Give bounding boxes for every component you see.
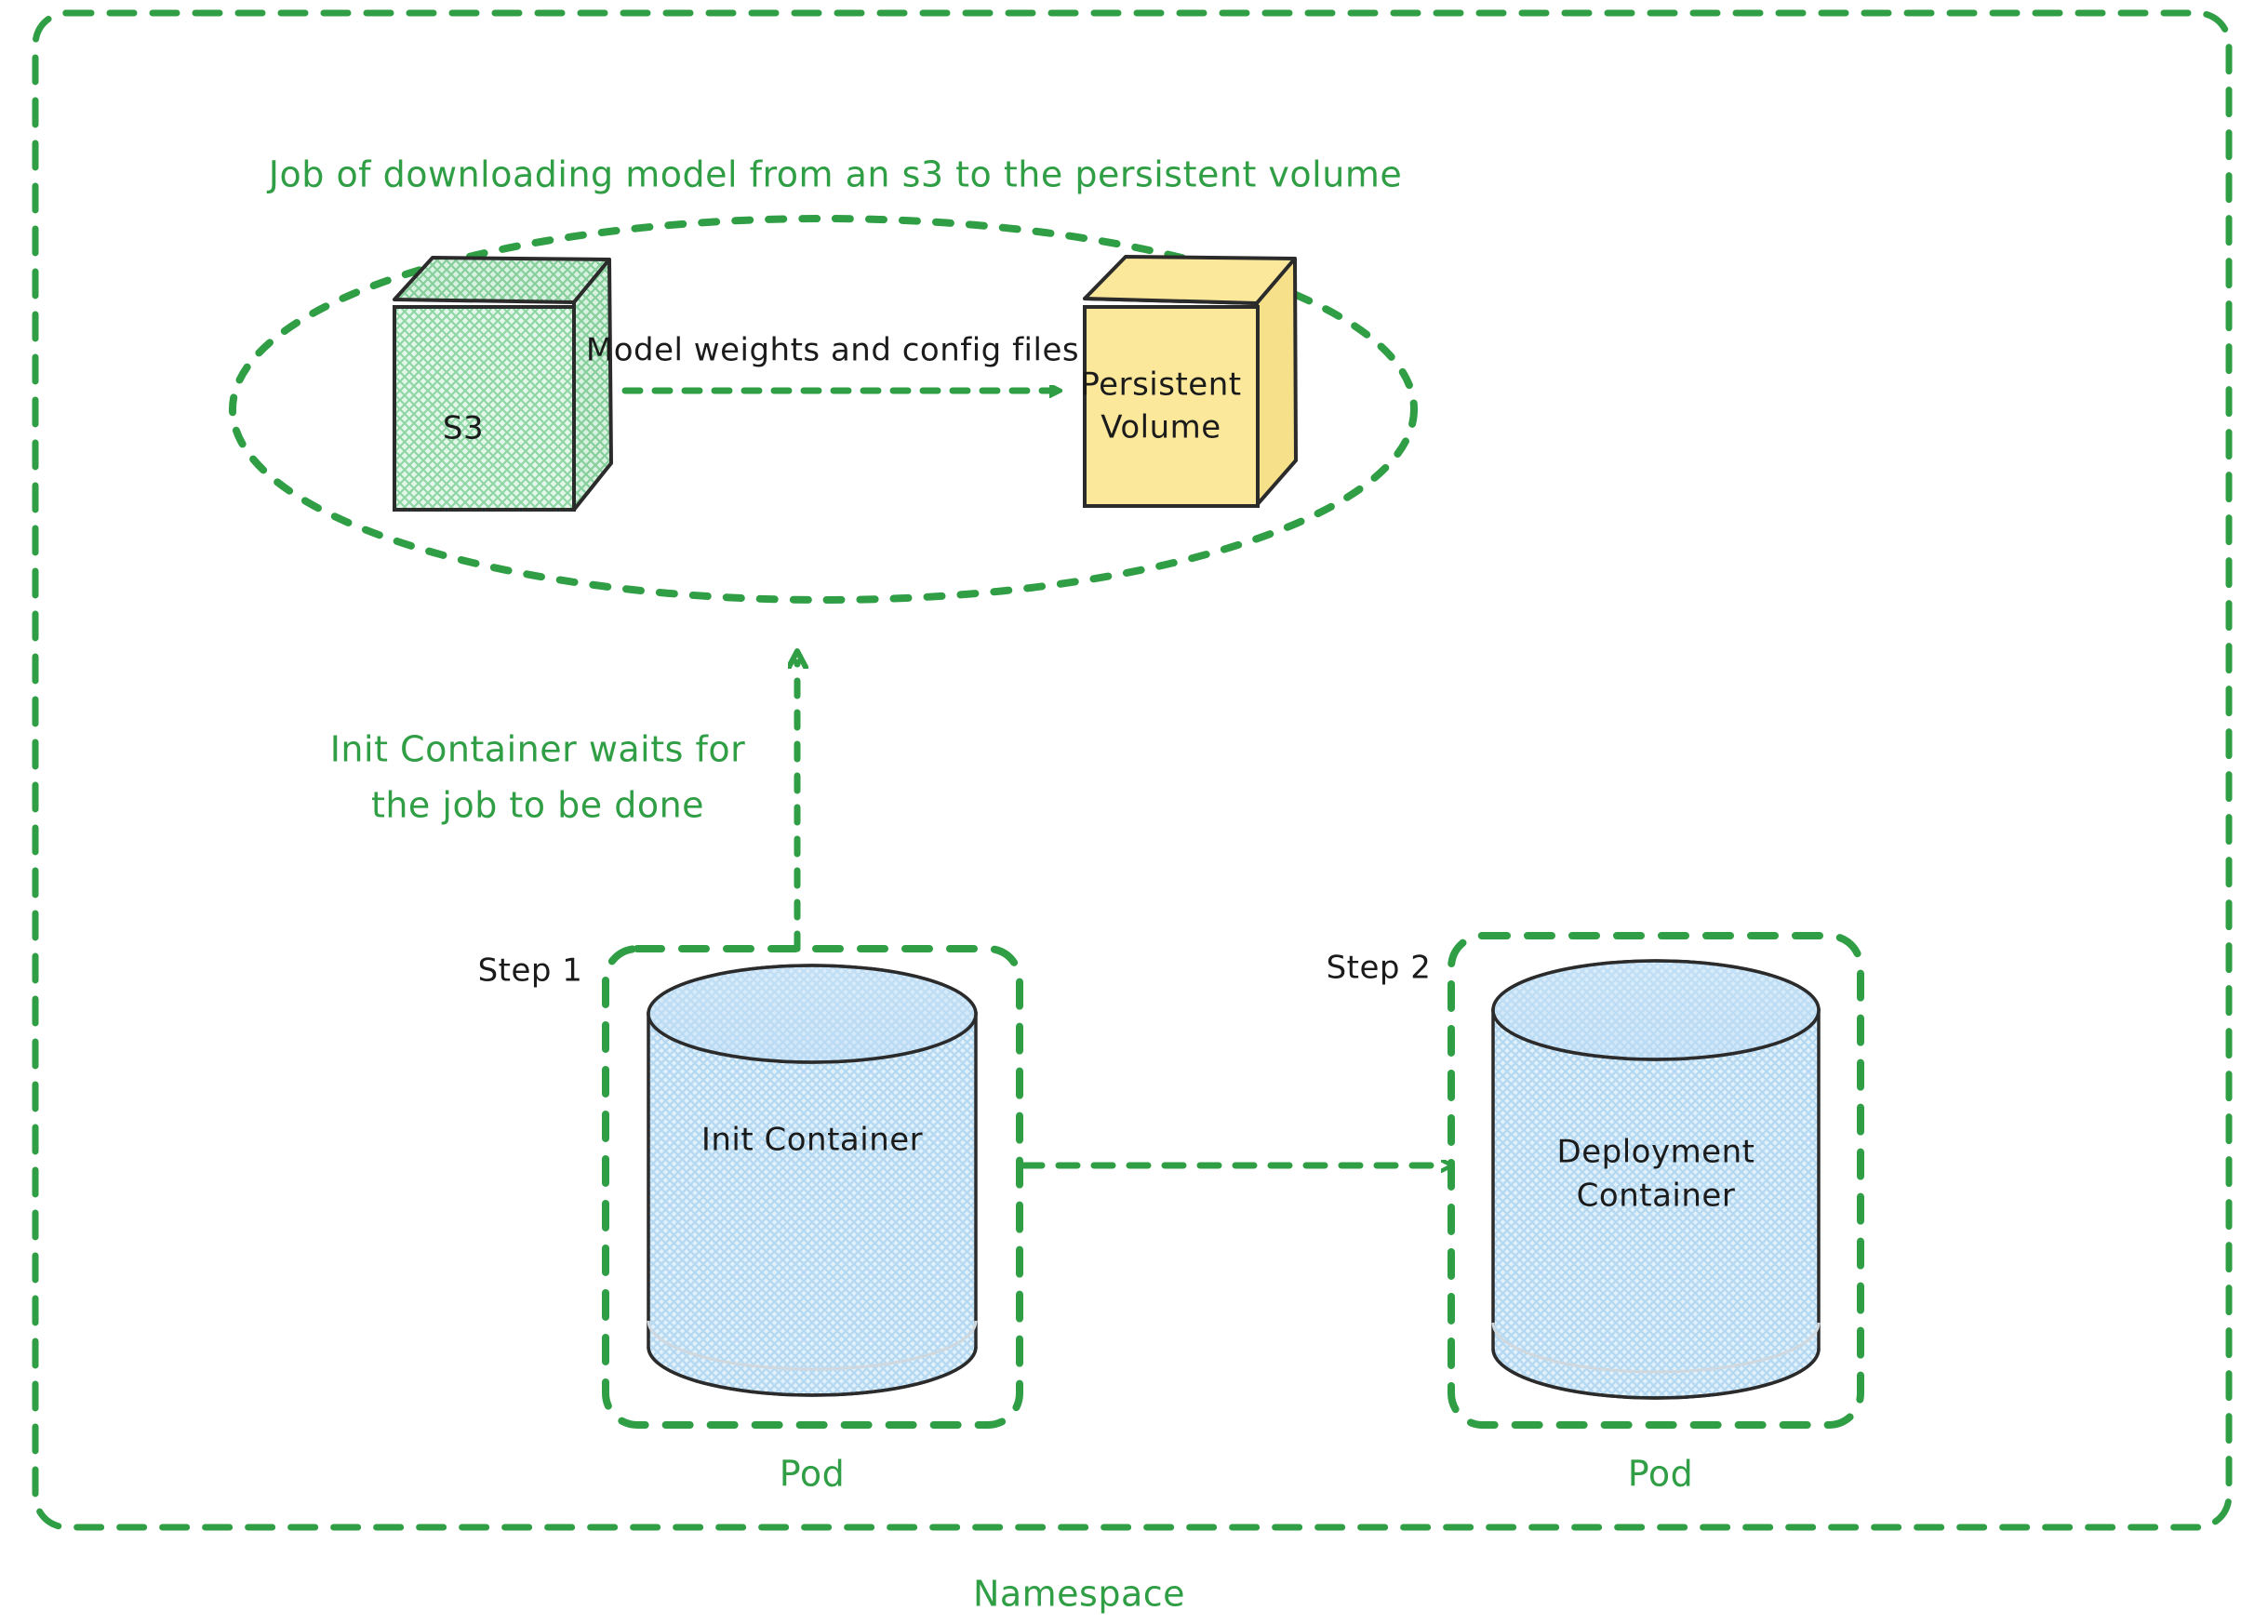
pv-cube-side [1257, 259, 1296, 505]
namespace-label: Namespace [973, 1574, 1185, 1615]
init-container-cylinder: Init Container [648, 965, 976, 1395]
pv-cube-front [1085, 307, 1258, 506]
namespace-boundary [35, 13, 2229, 1527]
deployment-container-cylinder: Deployment Container [1493, 961, 1819, 1398]
deployment-container-label-line2: Container [1577, 1178, 1736, 1215]
init-container-label: Init Container [701, 1122, 923, 1159]
architecture-diagram: Namespace Job of downloading model from … [0, 0, 2268, 1624]
pv-label-line1: Persistent [1080, 366, 1241, 404]
pod-2-label: Pod [1628, 1454, 1693, 1495]
model-transfer-label: Model weights and config files [586, 332, 1079, 369]
job-group-label: Job of downloading model from an s3 to t… [267, 154, 1402, 195]
init-wait-note-line2: the job to be done [371, 785, 704, 826]
init-wait-note-line1: Init Container waits for [330, 729, 746, 770]
persistent-volume-cube: Persistent Volume [1080, 257, 1296, 506]
s3-cube: S3 [394, 258, 611, 510]
namespace-border [35, 13, 2229, 1527]
pod-1-label: Pod [780, 1454, 845, 1495]
deployment-container-label-line1: Deployment [1557, 1134, 1755, 1171]
deployment-cylinder-top-hatch [1493, 961, 1819, 1059]
pv-label-line2: Volume [1101, 409, 1221, 446]
s3-cube-side [574, 260, 611, 510]
diagram-canvas: Namespace Job of downloading model from … [0, 0, 2268, 1624]
s3-cube-top [394, 258, 609, 302]
init-cylinder-top-hatch [648, 965, 976, 1062]
step-2-label: Step 2 [1327, 950, 1432, 987]
step-1-label: Step 1 [478, 952, 583, 990]
init-cylinder-body [648, 1014, 976, 1395]
model-transfer-edge: Model weights and config files [586, 332, 1079, 392]
s3-label: S3 [443, 410, 484, 447]
s3-cube-front [394, 307, 574, 510]
